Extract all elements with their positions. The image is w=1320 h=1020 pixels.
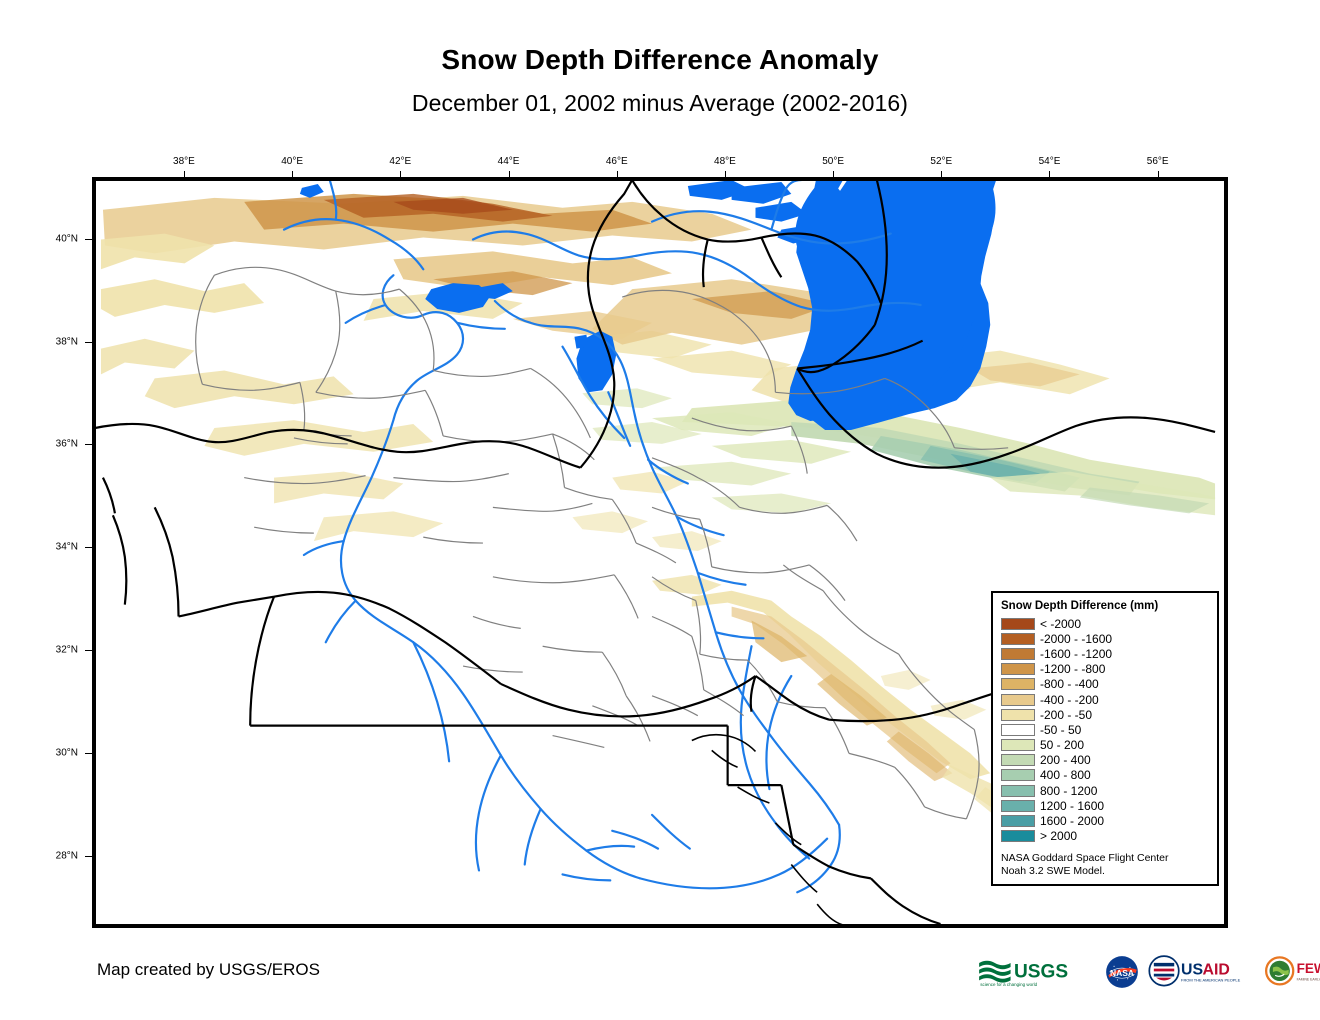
lon-label: 52°E [930,156,952,167]
legend-swatch [1001,648,1035,660]
lon-label: 50°E [822,156,844,167]
legend-row: -1600 - -1200 [1001,646,1209,661]
lon-label: 38°E [173,156,195,167]
legend-swatch [1001,678,1035,690]
page-title: Snow Depth Difference Anomaly [0,44,1320,76]
legend-swatch [1001,815,1035,827]
legend-label: < -2000 [1040,618,1081,630]
legend-swatch [1001,769,1035,781]
logo-strip: USGS science for a changing world NASA U… [978,954,1320,990]
lat-label: 34°N [56,542,78,553]
legend-source-line2: Noah 3.2 SWE Model. [1001,865,1209,878]
legend-row: < -2000 [1001,616,1209,631]
lon-label: 42°E [389,156,411,167]
legend-row: 400 - 800 [1001,768,1209,783]
lat-tick [85,753,92,754]
legend-label: -1200 - -800 [1040,663,1105,675]
lat-label: 30°N [56,748,78,759]
lat-label: 40°N [56,233,78,244]
legend-row: -50 - 50 [1001,722,1209,737]
legend-label: 400 - 800 [1040,769,1091,781]
legend-label: -400 - -200 [1040,694,1099,706]
map-credit: Map created by USGS/EROS [97,960,320,980]
lon-label: 48°E [714,156,736,167]
legend-label: > 2000 [1040,830,1077,842]
legend-swatch [1001,694,1035,706]
legend-row: -800 - -400 [1001,677,1209,692]
legend-row: 800 - 1200 [1001,783,1209,798]
lon-label: 40°E [281,156,303,167]
legend-label: -1600 - -1200 [1040,648,1112,660]
legend-row: 50 - 200 [1001,738,1209,753]
lat-tick [85,239,92,240]
legend-source: NASA Goddard Space Flight Center Noah 3.… [1001,852,1209,878]
legend-row: -400 - -200 [1001,692,1209,707]
legend-swatch [1001,739,1035,751]
lat-label: 28°N [56,850,78,861]
legend-swatch [1001,785,1035,797]
legend-label: 1600 - 2000 [1040,815,1104,827]
legend-label: -200 - -50 [1040,709,1092,721]
legend-panel: Snow Depth Difference (mm) < -2000-2000 … [991,591,1219,886]
lat-tick [85,856,92,857]
lat-label: 36°N [56,439,78,450]
legend-label: 800 - 1200 [1040,785,1097,797]
map-frame[interactable]: Snow Depth Difference (mm) < -2000-2000 … [92,177,1228,928]
legend-swatch [1001,724,1035,736]
legend-rows: < -2000-2000 - -1600-1600 - -1200-1200 -… [1001,616,1209,844]
legend-title: Snow Depth Difference (mm) [1001,600,1209,612]
svg-text:science for a changing world: science for a changing world [980,982,1037,987]
lat-label: 32°N [56,645,78,656]
legend-row: 200 - 400 [1001,753,1209,768]
legend-row: 1600 - 2000 [1001,813,1209,828]
legend-row: 1200 - 1600 [1001,798,1209,813]
svg-text:FROM THE AMERICAN PEOPLE: FROM THE AMERICAN PEOPLE [1181,978,1241,983]
svg-text:AID: AID [1203,961,1230,978]
lat-label: 38°N [56,336,78,347]
lat-tick [85,650,92,651]
legend-row: -2000 - -1600 [1001,631,1209,646]
svg-text:US: US [1181,961,1203,978]
legend-swatch [1001,709,1035,721]
legend-swatch [1001,800,1035,812]
legend-row: > 2000 [1001,829,1209,844]
nasa-logo[interactable]: NASA [1105,955,1139,989]
legend-label: -800 - -400 [1040,678,1099,690]
lon-label: 56°E [1147,156,1169,167]
legend-source-line1: NASA Goddard Space Flight Center [1001,852,1209,865]
page-subtitle: December 01, 2002 minus Average (2002-20… [0,90,1320,117]
usaid-logo[interactable]: US AID FROM THE AMERICAN PEOPLE [1148,955,1256,989]
legend-swatch [1001,663,1035,675]
legend-swatch [1001,830,1035,842]
legend-swatch [1001,618,1035,630]
legend-row: -1200 - -800 [1001,662,1209,677]
lat-tick [85,342,92,343]
lon-label: 46°E [606,156,628,167]
legend-label: -2000 - -1600 [1040,633,1112,645]
legend-label: 1200 - 1600 [1040,800,1104,812]
legend-label: 50 - 200 [1040,739,1084,751]
lat-tick [85,444,92,445]
svg-text:NASA: NASA [1110,968,1134,978]
svg-text:FAMINE EARLY WARNING SYSTEMS N: FAMINE EARLY WARNING SYSTEMS NETWORK [1297,977,1320,981]
legend-label: -50 - 50 [1040,724,1081,736]
lon-label: 54°E [1039,156,1061,167]
svg-text:FEWS NE: FEWS NE [1297,961,1320,976]
lon-label: 44°E [498,156,520,167]
fewsnet-logo[interactable]: FEWS NE FAMINE EARLY WARNING SYSTEMS NET… [1265,955,1320,989]
legend-swatch [1001,633,1035,645]
svg-text:USGS: USGS [1014,962,1068,983]
legend-swatch [1001,754,1035,766]
lat-tick [85,547,92,548]
title-block: Snow Depth Difference Anomaly December 0… [0,0,1320,117]
legend-label: 200 - 400 [1040,754,1091,766]
usgs-logo[interactable]: USGS science for a changing world [978,955,1096,989]
legend-row: -200 - -50 [1001,707,1209,722]
